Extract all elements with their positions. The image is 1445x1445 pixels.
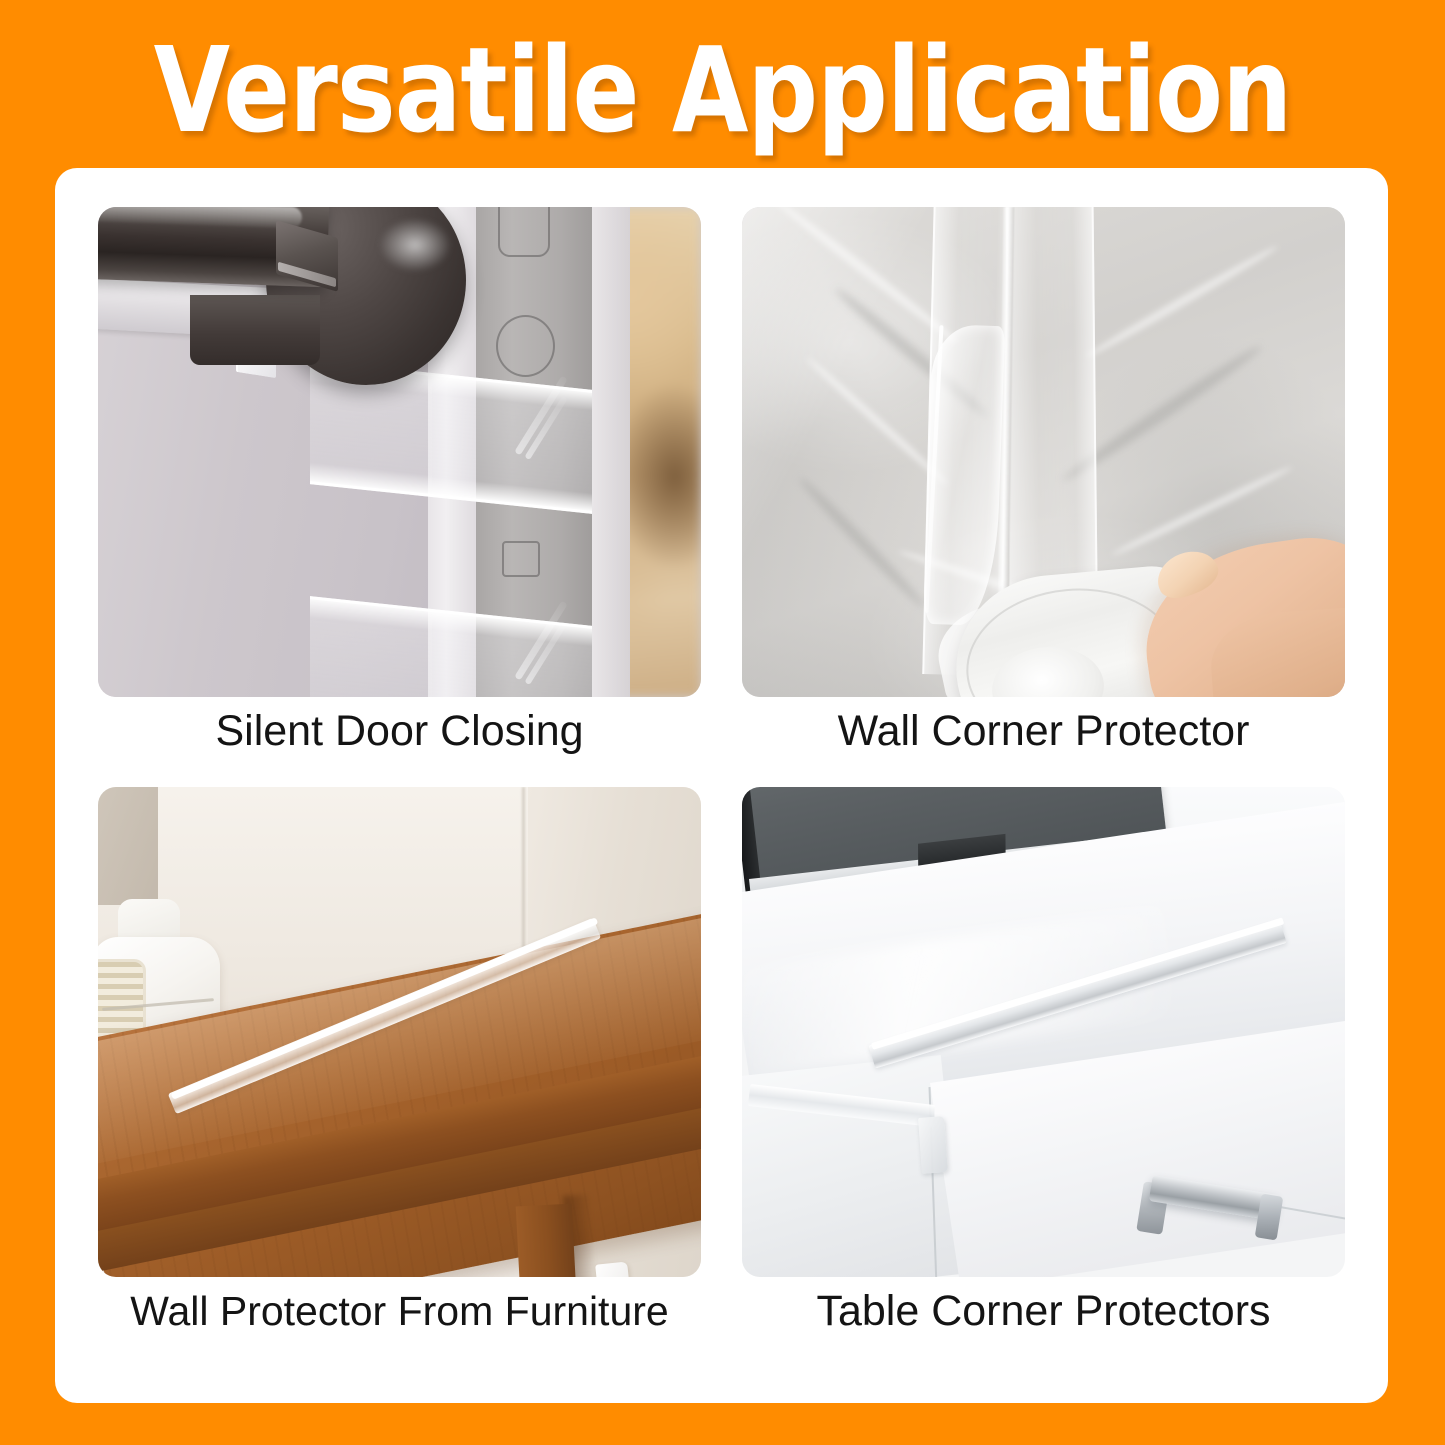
panel-mark-top: [498, 207, 550, 257]
photo-table-corner-protectors: [742, 787, 1345, 1277]
feature-grid: Silent Door Closing: [98, 207, 1345, 1367]
panel-mark-circle: [496, 315, 555, 377]
photo-silent-door-closing: [98, 207, 701, 697]
caption-wall-corner-protector: Wall Corner Protector: [742, 705, 1345, 757]
photo-wall-corner-protector: [742, 207, 1345, 697]
protector-face-side: [432, 373, 592, 514]
door-handle-specular: [380, 219, 450, 271]
protector-face-front: [310, 596, 432, 697]
door-handle-latch: [190, 295, 320, 365]
feature-cell-wall-protector-from-furniture: Wall Protector From Furniture: [98, 787, 701, 1367]
caption-wall-protector-from-furniture: Wall Protector From Furniture: [98, 1285, 701, 1337]
content-card: Silent Door Closing: [55, 168, 1388, 1403]
panel-mark-square: [502, 541, 540, 577]
left-wall-shadow: [98, 787, 158, 905]
feature-cell-silent-door-closing: Silent Door Closing: [98, 207, 701, 787]
caption-silent-door-closing: Silent Door Closing: [98, 705, 701, 757]
feature-cell-table-corner-protectors: Table Corner Protectors: [742, 787, 1345, 1367]
page-title: Versatile Application: [51, 30, 1395, 150]
photo-wall-protector-from-furniture: [98, 787, 701, 1277]
feature-cell-wall-corner-protector: Wall Corner Protector: [742, 207, 1345, 787]
clear-edge-protector-corner-cap: [918, 1116, 948, 1174]
door-frame-edge: [592, 207, 630, 697]
product-infographic-poster: Versatile Application: [0, 0, 1445, 1445]
caption-table-corner-protectors: Table Corner Protectors: [742, 1285, 1345, 1337]
table-leg: [516, 1204, 577, 1277]
